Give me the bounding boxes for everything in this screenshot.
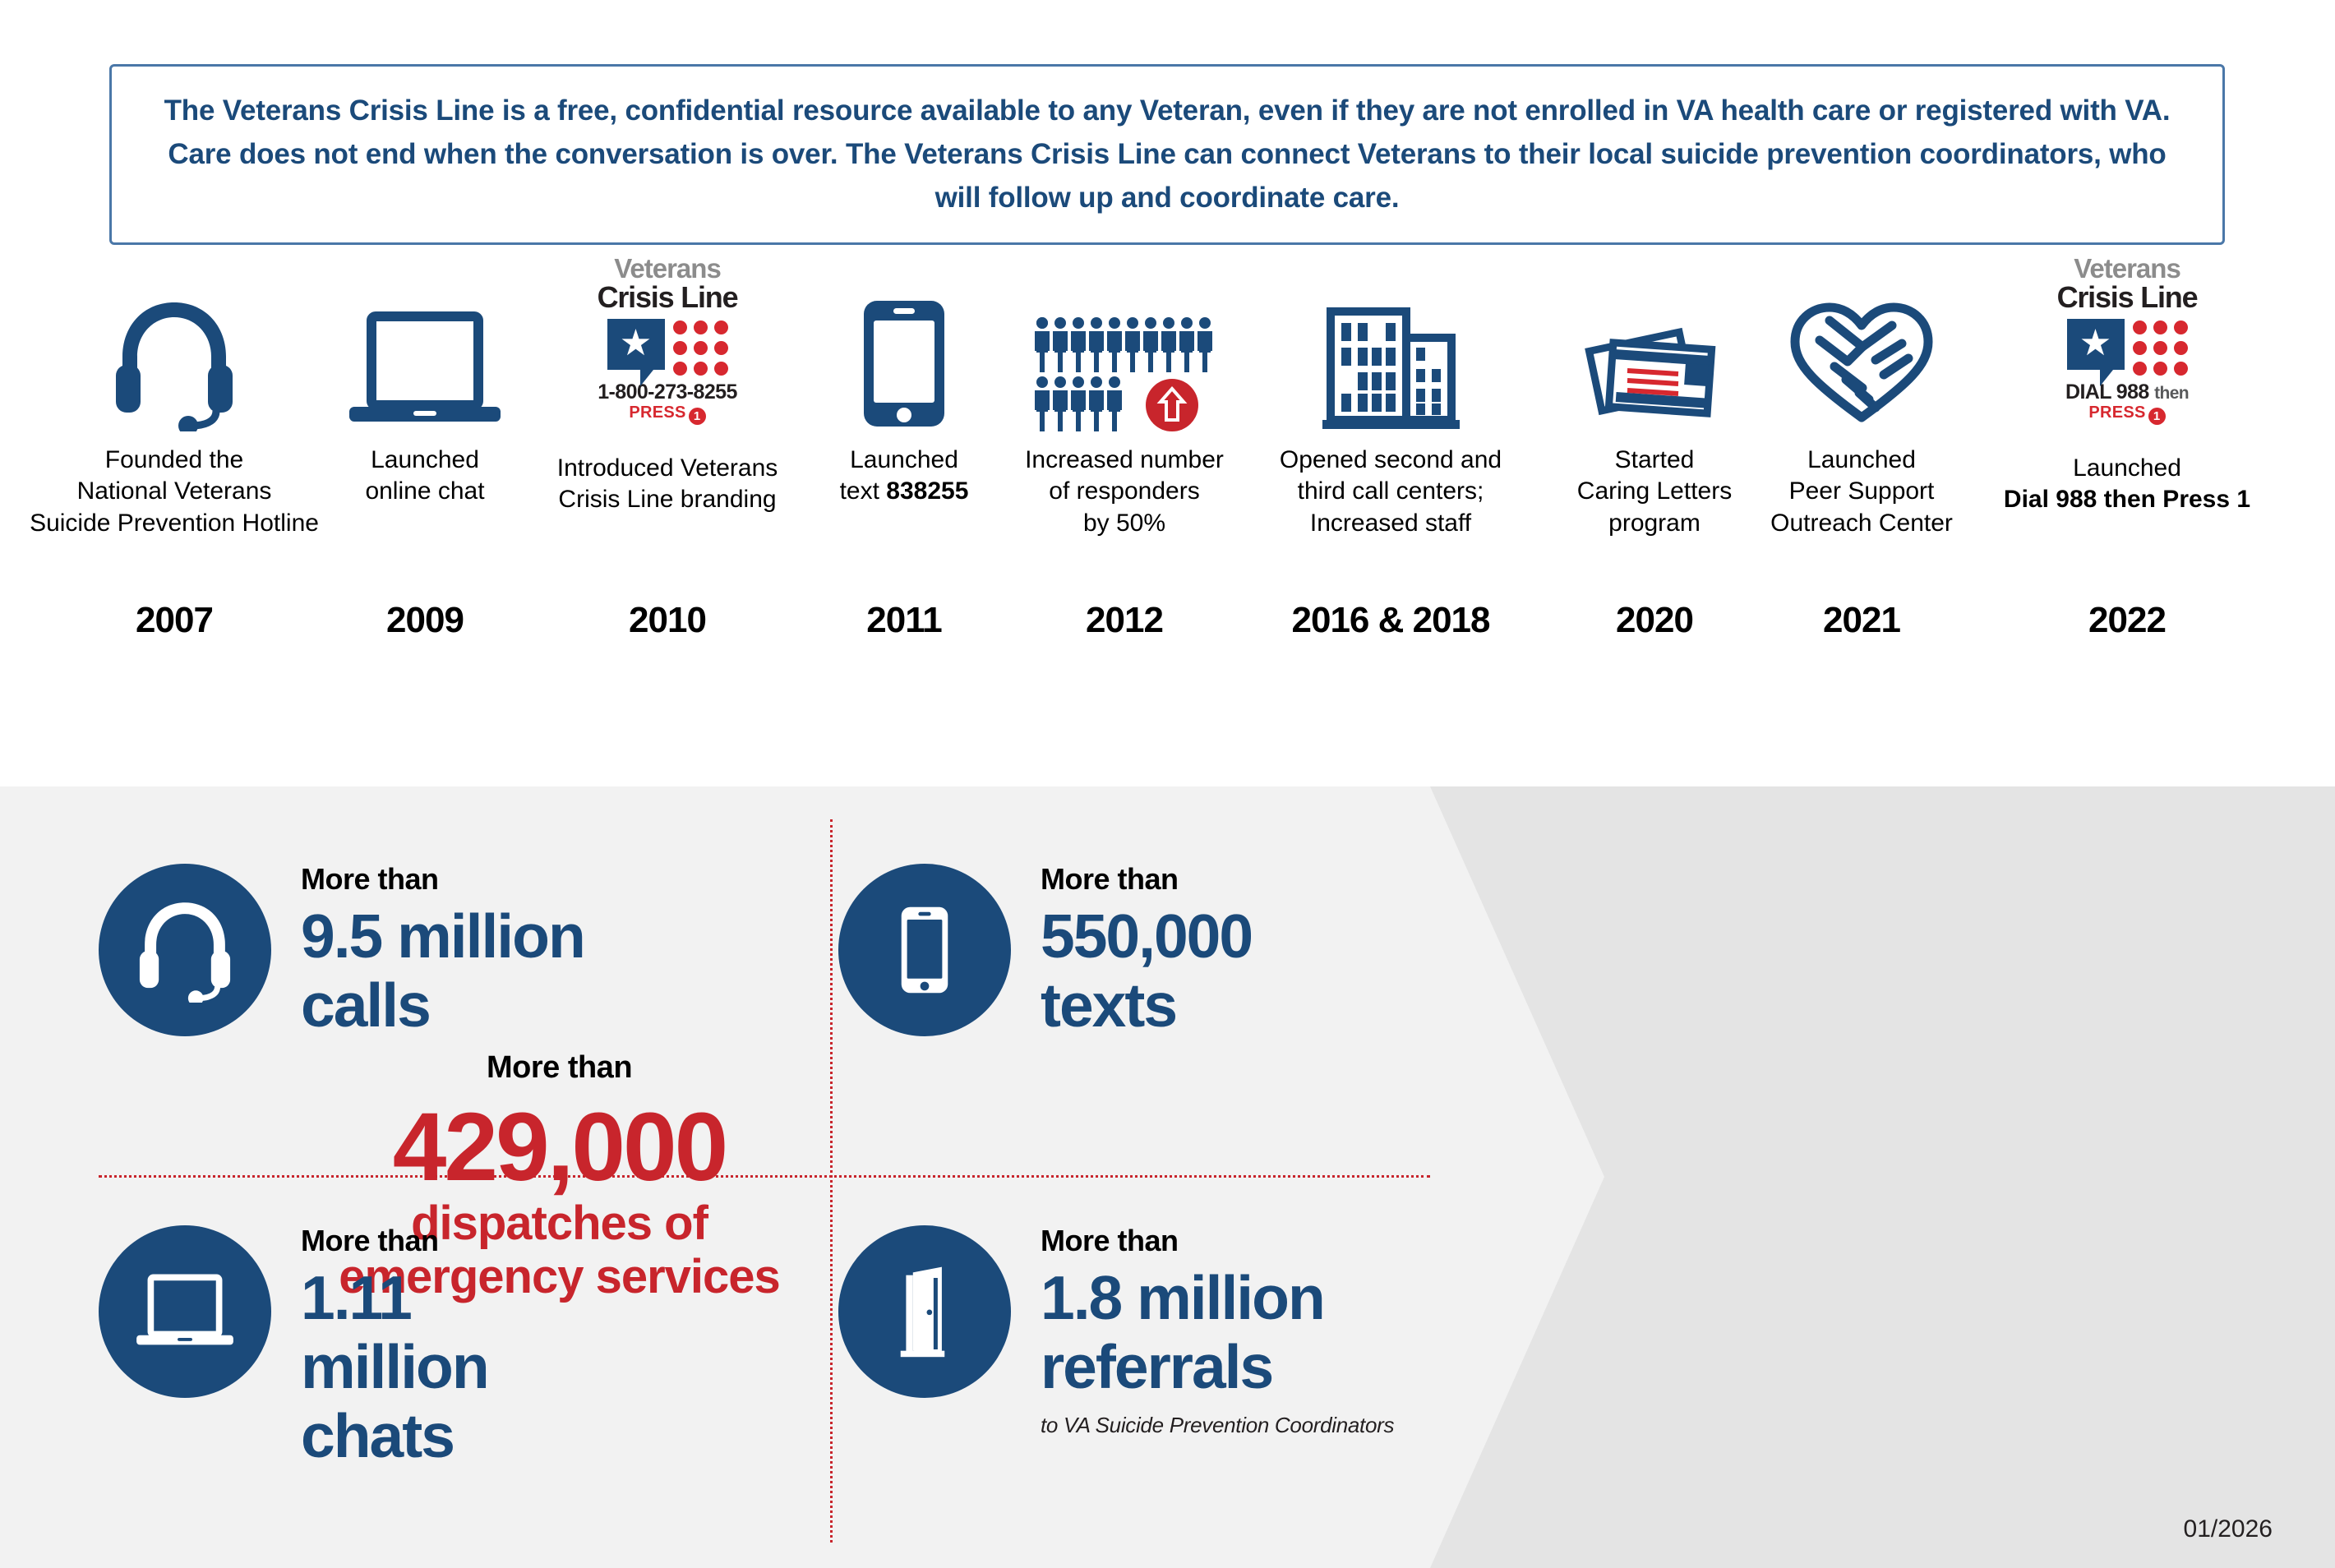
stat-value: 9.5 million calls — [301, 902, 584, 1040]
label-line-3: Outreach Center — [1770, 510, 1953, 537]
logo-mark: ★ — [577, 319, 758, 376]
logo-word-crisis-line: Crisis Line — [2037, 283, 2217, 312]
stat-more-than-label: More than — [301, 1224, 488, 1258]
timeline-item-2022: Veterans Crisis Line ★ DIAL 988 then — [1963, 255, 2291, 715]
label-line-3: by 50% — [1083, 510, 1165, 537]
label-line-2: third call centers; — [1298, 477, 1484, 505]
stat-value-line-2: texts — [1041, 971, 1176, 1040]
timeline: Founded the National Veterans Suicide Pr… — [0, 255, 2335, 715]
stat-value-line-2: calls — [301, 971, 430, 1040]
divider-vertical — [830, 819, 833, 1543]
stat-value-line-1: 1.8 million — [1041, 1263, 1324, 1332]
stat-value-line-1: 9.5 million — [301, 902, 584, 971]
label-line-3: program — [1608, 510, 1700, 537]
stat-text: More than 550,000 texts — [1041, 852, 1252, 1040]
stats-grid: More than 9.5 million calls More than — [99, 811, 1430, 1551]
label-line-2: online chat — [365, 477, 484, 505]
keypad-dots-icon — [673, 321, 728, 376]
header-text: The Veterans Crisis Line is a free, conf… — [153, 89, 2181, 220]
stat-value-line-3: chats — [301, 1401, 454, 1470]
top-white-section: The Veterans Crisis Line is a free, conf… — [0, 0, 2335, 786]
keypad-dots-icon — [2133, 321, 2188, 376]
label-line-1: Opened second and — [1280, 446, 1502, 473]
stat-value-line-2: million — [301, 1332, 488, 1401]
logo-phone-number: 1-800-273-8255 — [577, 382, 758, 403]
label-line-3: Increased staff — [1310, 510, 1471, 537]
stat-value: 550,000 texts — [1041, 902, 1252, 1040]
stat-chats: More than 1.11 million chats — [99, 1214, 731, 1470]
stat-more-than-label: More than — [1041, 862, 1252, 897]
headset-circle-icon — [99, 864, 271, 1036]
timeline-year: 2022 — [1963, 600, 2291, 641]
logo-dial-number: DIAL 988 then — [2037, 382, 2217, 403]
divider-horizontal — [99, 1175, 1430, 1178]
label-line-1: Launched — [1807, 446, 1916, 473]
stat-referrals: More than 1.8 million referrals to VA Su… — [838, 1214, 1471, 1438]
mobile-phone-circle-icon — [838, 864, 1011, 1036]
stat-value: 1.8 million referrals — [1041, 1263, 1394, 1401]
label-line-1: Launched — [850, 446, 958, 473]
stat-text: More than 1.11 million chats — [301, 1214, 488, 1470]
label-line-2: text 838255 — [840, 477, 969, 505]
stat-text: More than 1.8 million referrals to VA Su… — [1041, 1214, 1394, 1438]
stat-value-line-1: 1.11 — [301, 1263, 411, 1332]
label-line-2: of responders — [1049, 477, 1199, 505]
highlight-arrow-panel — [1430, 786, 2335, 1568]
stat-value-line-2: referrals — [1041, 1332, 1272, 1401]
label-line-1: Launched — [2073, 454, 2181, 482]
stat-value: 1.11 million chats — [301, 1263, 488, 1470]
press-number: 1 — [689, 408, 706, 425]
logo-word-veterans: Veterans — [577, 255, 758, 282]
stat-texts: More than 550,000 texts — [838, 852, 1471, 1040]
logo-mark: ★ — [2037, 319, 2217, 376]
stat-text: More than 9.5 million calls — [301, 852, 584, 1040]
stat-more-than-label: More than — [1041, 1224, 1394, 1258]
label-line-1: Started — [1615, 446, 1695, 473]
label-line-1: Launched — [371, 446, 479, 473]
label-line-2: Peer Support — [1789, 477, 1935, 505]
logo-word-crisis-line: Crisis Line — [577, 283, 758, 312]
speech-bubble-icon: ★ — [607, 319, 665, 370]
logo-press-label: PRESS1 — [2037, 404, 2217, 425]
stat-more-than-label: More than — [301, 862, 584, 897]
then-text: then — [2154, 384, 2189, 403]
press-text: PRESS — [2088, 404, 2145, 422]
star-icon: ★ — [620, 325, 652, 362]
date-stamp: 01/2026 — [2184, 1515, 2273, 1543]
label-line-2: Dial 988 then Press 1 — [2004, 486, 2250, 513]
label-line-2: National Veterans — [77, 477, 272, 505]
stat-note: to VA Suicide Prevention Coordinators — [1041, 1413, 1394, 1438]
press-number: 1 — [2148, 408, 2166, 425]
stat-value-line-1: 550,000 — [1041, 902, 1252, 971]
speech-bubble-icon: ★ — [2067, 319, 2125, 370]
logo-press-label: PRESS1 — [577, 404, 758, 425]
star-icon: ★ — [2079, 325, 2111, 362]
bottom-gray-section: More than 429,000 dispatches of emergenc… — [0, 786, 2335, 1568]
label-line-1: Increased number — [1025, 446, 1224, 473]
logo-word-veterans: Veterans — [2037, 255, 2217, 282]
veterans-crisis-line-988-logo-icon: Veterans Crisis Line ★ DIAL 988 then — [1963, 255, 2291, 431]
open-door-circle-icon — [838, 1225, 1011, 1398]
timeline-item-label: Launched Dial 988 then Press 1 — [1963, 453, 2291, 516]
laptop-circle-icon — [99, 1225, 271, 1398]
label-line-1: Founded the — [105, 446, 243, 473]
press-text: PRESS — [629, 404, 685, 422]
stat-calls: More than 9.5 million calls — [99, 852, 731, 1040]
header-callout-box: The Veterans Crisis Line is a free, conf… — [109, 64, 2225, 245]
